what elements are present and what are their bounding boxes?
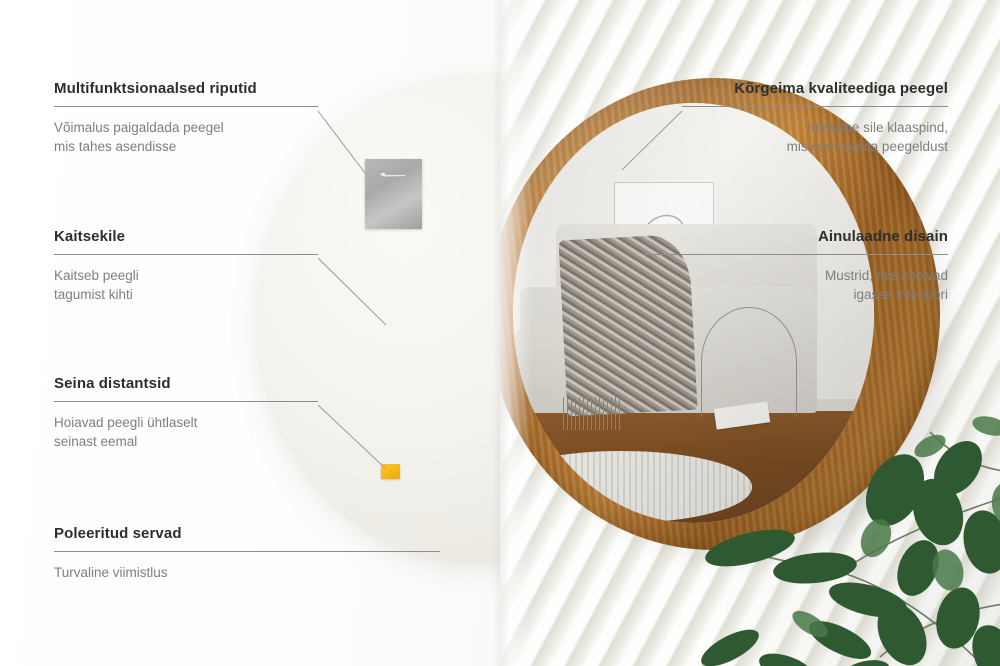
panel-divider <box>492 0 510 666</box>
callout-title: Ainulaadne disain <box>706 228 948 245</box>
desc-line-1: Võimalus paigaldada peegel <box>54 120 224 135</box>
callout-description: Mustrid, mis sobivad igasse interjööri <box>706 266 948 304</box>
callout-rule <box>54 551 440 552</box>
desc-line-2: tagumist kihti <box>54 287 133 302</box>
callout-title: Kaitsekile <box>54 228 318 245</box>
callout-rule <box>643 254 948 255</box>
callout-rule <box>682 106 948 107</box>
callout-rule <box>54 401 318 402</box>
desc-line-2: seinast eemal <box>54 434 137 449</box>
callout-protective-film: Kaitsekile Kaitseb peegli tagumist kihti <box>54 228 318 304</box>
keyhole-slot-icon <box>376 170 408 179</box>
callout-title: Seina distantsid <box>54 375 318 392</box>
infographic-stage: Multifunktsionaalsed riputid Võimalus pa… <box>0 0 1000 666</box>
callout-description: Ideaalne sile klaaspind, mis ei moonuta … <box>682 118 948 156</box>
callout-polished-edges: Poleeritud servad Turvaline viimistlus <box>54 525 440 582</box>
callout-title: Multifunktsionaalsed riputid <box>54 80 318 97</box>
callout-description: Turvaline viimistlus <box>54 563 440 582</box>
hanger-plate-icon <box>365 159 422 229</box>
callout-title: Kõrgeima kvaliteediga peegel <box>682 80 948 97</box>
desc-line-2: mis tahes asendisse <box>54 139 176 154</box>
desc-line-1: Mustrid, mis sobivad <box>825 268 948 283</box>
callout-description: Kaitseb peegli tagumist kihti <box>54 266 318 304</box>
callout-unique-design: Ainulaadne disain Mustrid, mis sobivad i… <box>706 228 948 304</box>
desc-line-2: mis ei moonuta peegeldust <box>787 139 948 154</box>
desc-line-1: Ideaalne sile klaaspind, <box>808 120 948 135</box>
callout-rule <box>54 254 318 255</box>
callout-title: Poleeritud servad <box>54 525 440 542</box>
desc-line-2: igasse interjööri <box>853 287 948 302</box>
desc-line-1: Kaitseb peegli <box>54 268 139 283</box>
wall-spacer-icon <box>381 464 400 479</box>
callout-rule <box>54 106 318 107</box>
callout-description: Hoiavad peegli ühtlaselt seinast eemal <box>54 413 318 451</box>
desc-line-1: Hoiavad peegli ühtlaselt <box>54 415 197 430</box>
callout-description: Võimalus paigaldada peegel mis tahes ase… <box>54 118 318 156</box>
callout-highest-quality-mirror: Kõrgeima kvaliteediga peegel Ideaalne si… <box>682 80 948 156</box>
callout-wall-spacers: Seina distantsid Hoiavad peegli ühtlasel… <box>54 375 318 451</box>
callout-multifunctional-hangers: Multifunktsionaalsed riputid Võimalus pa… <box>54 80 318 156</box>
green-foliage-branches <box>690 372 1000 666</box>
